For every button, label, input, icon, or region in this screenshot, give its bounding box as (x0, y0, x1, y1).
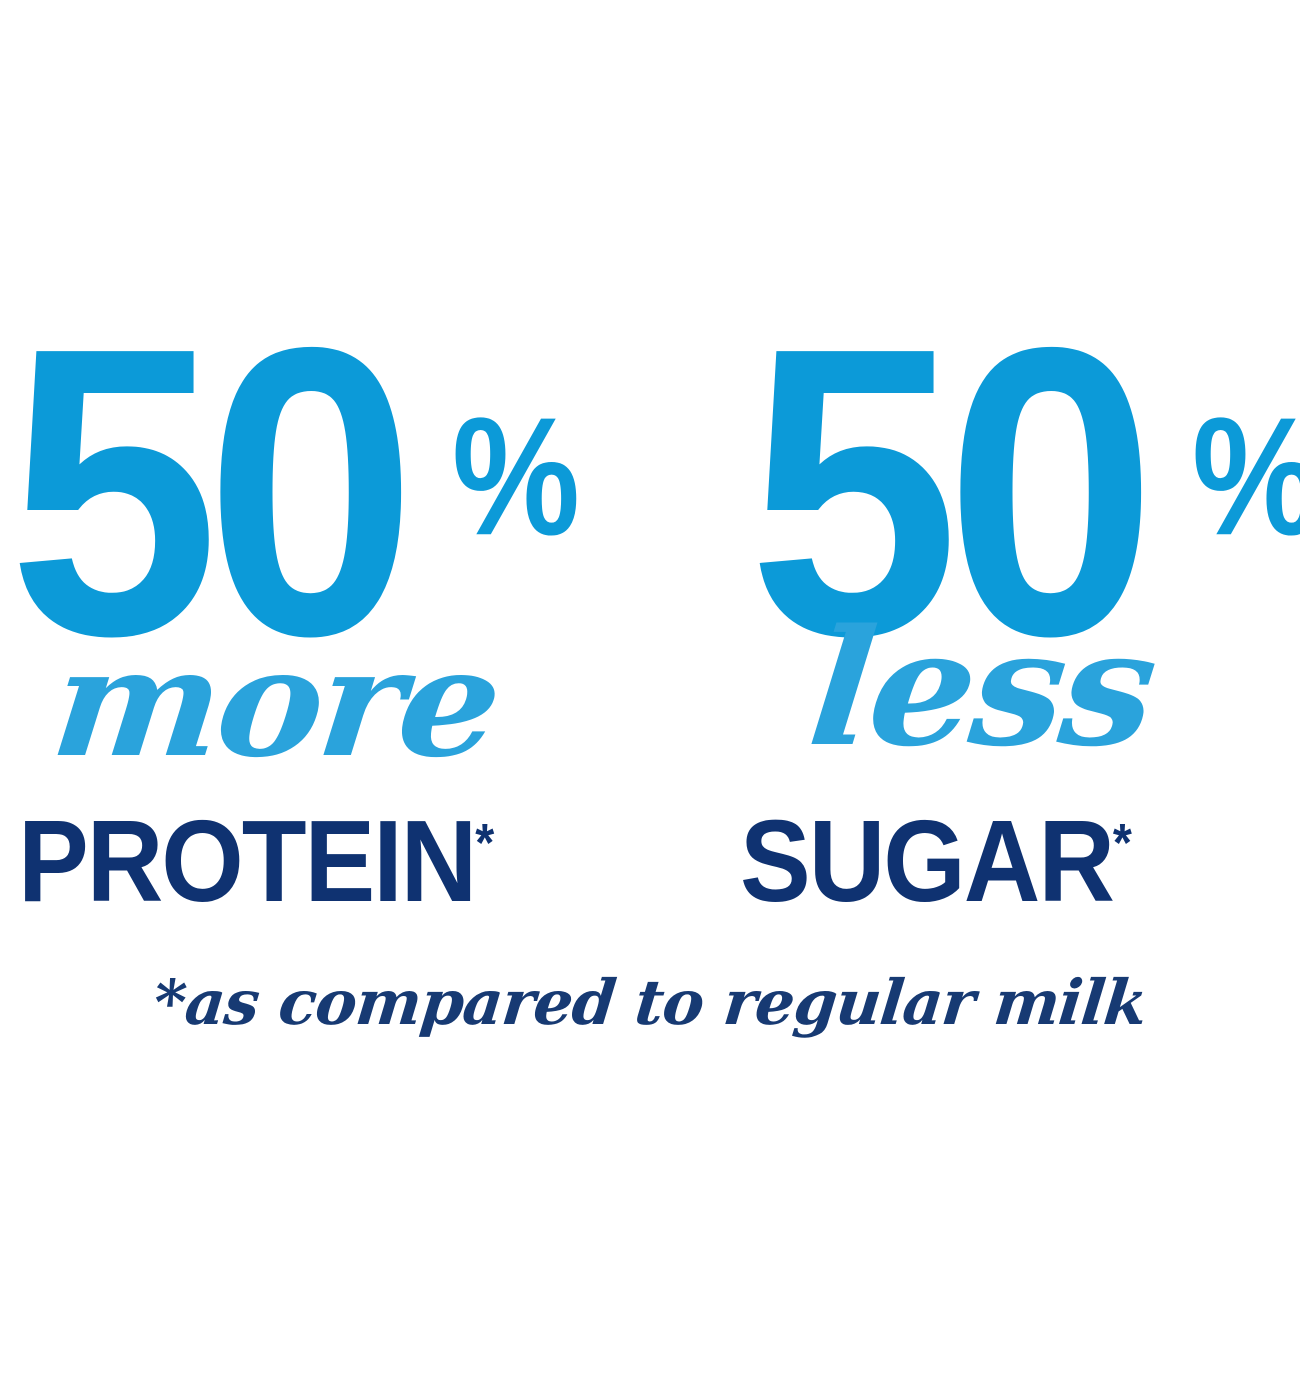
sugar-modifier-less: less (803, 608, 1160, 768)
sugar-nutrient-text: SUGAR (740, 797, 1113, 927)
claim-block-sugar: 50 % (720, 330, 1300, 630)
protein-percent-symbol: % (452, 392, 580, 560)
footnote-disclaimer: *as compared to regular milk (0, 968, 1300, 1038)
sugar-footnote-asterisk: * (1113, 814, 1132, 873)
protein-percentage-number: 50 (8, 330, 403, 654)
protein-modifier-more: more (46, 628, 504, 778)
footnote-text: *as compared to regular milk (150, 968, 1149, 1038)
protein-nutrient-label: PROTEIN* (18, 786, 494, 920)
sugar-nutrient-label: SUGAR* (740, 786, 1132, 920)
protein-nutrient-text: PROTEIN (18, 797, 475, 927)
nutrition-claim-poster: 50 % more PROTEIN* 50 % less SUGAR* *as … (0, 0, 1300, 1400)
protein-footnote-asterisk: * (475, 814, 494, 873)
sugar-percent-symbol: % (1192, 392, 1300, 560)
headline-row-protein: 50 % (0, 330, 600, 630)
headline-row-sugar: 50 % (720, 330, 1300, 630)
claim-block-protein: 50 % (0, 330, 600, 630)
